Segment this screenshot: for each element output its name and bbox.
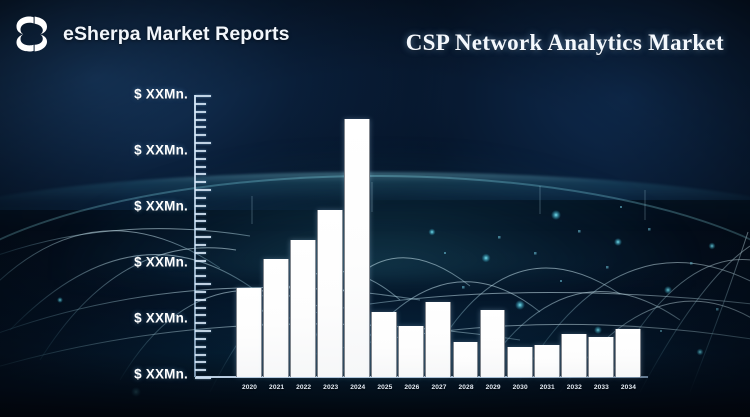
y-axis-label: $ XXMn. <box>134 311 188 326</box>
y-axis-tick <box>195 189 211 191</box>
y-axis-label: $ XXMn. <box>134 87 188 102</box>
bar-chart: $ XXMn.$ XXMn.$ XXMn.$ XXMn.$ XXMn.$ XXM… <box>0 0 750 417</box>
y-axis-tick <box>195 307 206 309</box>
y-axis-tick <box>195 346 206 348</box>
x-axis-label: 2032 <box>561 384 588 391</box>
y-axis-tick <box>195 95 211 97</box>
bar <box>263 259 289 377</box>
bar <box>561 334 587 377</box>
y-axis-tick <box>195 354 206 356</box>
bar <box>480 310 506 377</box>
sherpa-s-logo-icon <box>10 13 54 55</box>
bar <box>290 240 316 377</box>
y-axis-tick <box>195 119 206 121</box>
x-axis-label: 2027 <box>425 384 452 391</box>
y-axis-tick <box>195 150 206 152</box>
y-axis-tick <box>195 314 206 316</box>
bar <box>398 326 424 377</box>
x-axis-label: 2031 <box>534 384 561 391</box>
bar <box>344 119 370 377</box>
y-axis-tick <box>195 173 206 175</box>
y-axis-labels: $ XXMn.$ XXMn.$ XXMn.$ XXMn.$ XXMn.$ XXM… <box>100 88 188 380</box>
x-axis-label: 2023 <box>317 384 344 391</box>
y-axis-tick <box>195 369 206 371</box>
x-axis-label: 2028 <box>453 384 480 391</box>
y-axis-tick <box>195 299 206 301</box>
x-axis-labels: 2020202120222023202420252026202720282029… <box>236 384 642 398</box>
x-axis-label: 2025 <box>371 384 398 391</box>
y-axis-tick <box>195 213 206 215</box>
y-axis-tick <box>195 244 206 246</box>
x-axis-label: 2030 <box>507 384 534 391</box>
x-axis-label: 2026 <box>398 384 425 391</box>
y-axis-tick <box>195 275 206 277</box>
market-report-infographic: eSherpa Market Reports CSP Network Analy… <box>0 0 750 417</box>
y-axis-ruler <box>194 95 212 377</box>
bar <box>371 312 397 377</box>
x-axis-label: 2034 <box>615 384 642 391</box>
y-axis-tick <box>195 291 206 293</box>
bar <box>453 342 479 377</box>
y-axis-tick <box>195 126 206 128</box>
y-axis-tick <box>195 197 206 199</box>
y-axis-tick <box>195 252 206 254</box>
y-axis-tick <box>195 103 206 105</box>
y-axis-label: $ XXMn. <box>134 143 188 158</box>
brand-logo-block: eSherpa Market Reports <box>10 13 290 55</box>
y-axis-tick <box>195 322 206 324</box>
x-axis-label: 2033 <box>588 384 615 391</box>
y-axis-tick <box>195 330 211 332</box>
bar <box>615 329 641 377</box>
page-title: CSP Network Analytics Market <box>406 30 724 56</box>
x-axis-label: 2029 <box>480 384 507 391</box>
bar <box>317 210 343 377</box>
x-axis-label: 2022 <box>290 384 317 391</box>
y-axis-tick <box>195 228 206 230</box>
x-axis-label: 2020 <box>236 384 263 391</box>
y-axis-tick <box>195 142 211 144</box>
x-axis-label: 2024 <box>344 384 371 391</box>
y-axis-tick <box>195 181 206 183</box>
y-axis-tick <box>195 236 211 238</box>
y-axis-label: $ XXMn. <box>134 367 188 382</box>
y-axis-tick <box>195 260 206 262</box>
bar <box>588 337 614 377</box>
bar <box>236 288 262 377</box>
bar <box>425 302 451 377</box>
y-axis-tick <box>195 166 206 168</box>
y-axis-tick <box>195 205 206 207</box>
y-axis-tick <box>195 361 206 363</box>
y-axis-tick <box>195 220 206 222</box>
y-axis-label: $ XXMn. <box>134 255 188 270</box>
x-axis-label: 2021 <box>263 384 290 391</box>
brand-name: eSherpa Market Reports <box>63 23 290 46</box>
y-axis-tick <box>195 111 206 113</box>
y-axis-tick <box>195 158 206 160</box>
y-axis-tick <box>195 283 211 285</box>
y-axis-label: $ XXMn. <box>134 199 188 214</box>
y-axis-tick <box>195 134 206 136</box>
bar <box>507 347 533 377</box>
y-axis-tick <box>195 267 206 269</box>
bar <box>534 345 560 377</box>
bars-container <box>236 108 642 377</box>
y-axis-tick <box>195 338 206 340</box>
